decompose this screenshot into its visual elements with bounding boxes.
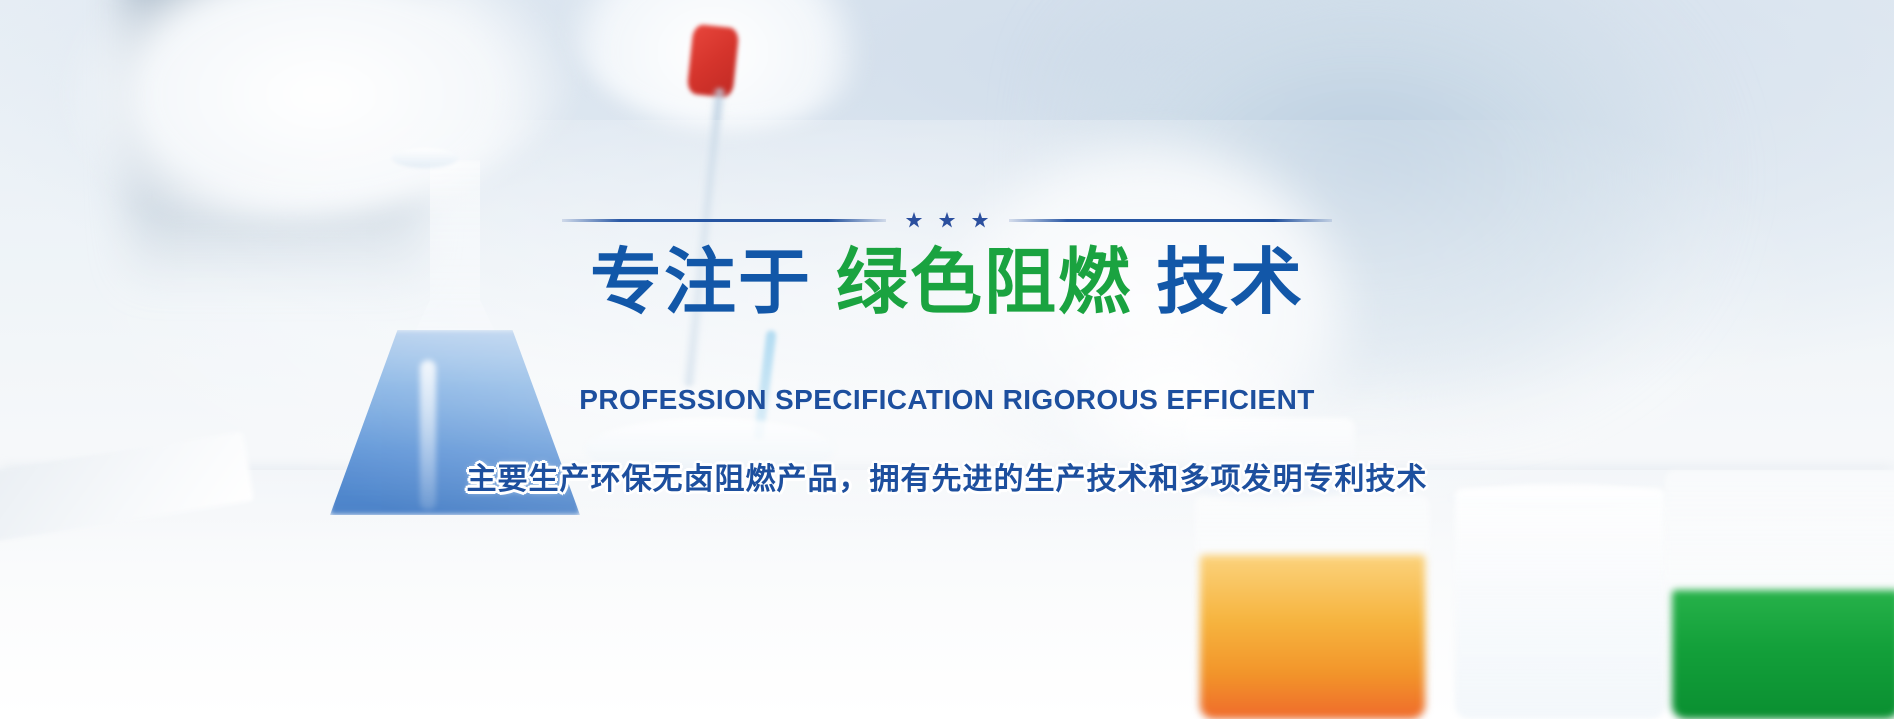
star-icon: [972, 212, 989, 229]
banner-content: 专注于绿色阻燃技术 PROFESSION SPECIFICATION RIGOR…: [0, 0, 1894, 719]
banner-subtitle-english: PROFESSION SPECIFICATION RIGOROUS EFFICI…: [579, 384, 1314, 416]
headline-part-2: 绿色阻燃: [836, 243, 1132, 323]
headline-part-1: 专注于: [590, 243, 812, 323]
banner-tagline: 主要生产环保无卤阻燃产品，拥有先进的生产技术和多项发明专利技术: [467, 454, 1428, 498]
star-group: [900, 212, 995, 229]
headline-part-3: 技术: [1156, 243, 1304, 323]
star-icon: [906, 212, 923, 229]
rule-left: [562, 219, 886, 222]
rule-right: [1009, 219, 1333, 222]
star-icon: [939, 212, 956, 229]
decorative-rule-row: [562, 212, 1332, 229]
banner-headline: 专注于绿色阻燃技术: [590, 245, 1304, 321]
hero-banner: 专注于绿色阻燃技术 PROFESSION SPECIFICATION RIGOR…: [0, 0, 1894, 719]
